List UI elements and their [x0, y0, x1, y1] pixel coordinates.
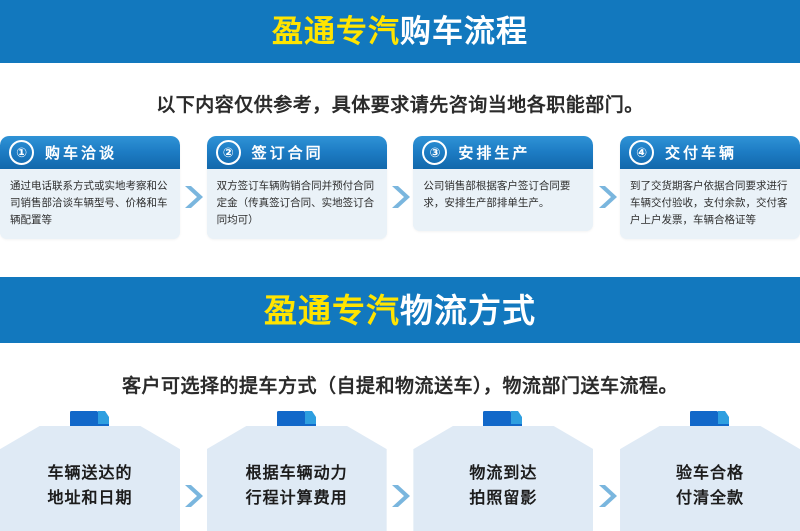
chevron-right-icon-2 — [387, 136, 414, 210]
brand-name-logistics: 盈通专汽 — [264, 292, 400, 329]
buy-process-steps: ① 购车洽谈 通过电话联系方式或实地考察和公司销售部洽谈车辆型号、价格和车辆配置… — [0, 136, 800, 248]
step-card-1-title: 购车洽谈 — [45, 142, 117, 163]
step-card-2[interactable]: ② 签订合同 双方签订车辆购销合同并预付合同定金（传真签订合同、实地签订合同均可… — [207, 136, 387, 239]
logistics-card-2-line2: 行程计算费用 — [246, 487, 348, 512]
logistics-card-1-shape: 车辆送达的 地址和日期 — [0, 426, 180, 531]
step-number-icon-3: ③ — [422, 140, 447, 165]
logistics-card-4-line2: 付清全款 — [676, 487, 744, 512]
step-card-4-body: 到了交货期客户依据合同要求进行车辆交付验收，支付余款，交付客户上户发票，车辆合格… — [620, 169, 800, 239]
buy-process-subtitle: 以下内容仅供参考，具体要求请先咨询当地各职能部门。 — [0, 63, 800, 117]
logistics-card-3-line1: 物流到达 — [469, 462, 537, 487]
logistics-card-4[interactable]: 验车合格 付清全款 — [620, 409, 800, 531]
step-card-4[interactable]: ④ 交付车辆 到了交货期客户依据合同要求进行车辆交付验收，支付余款，交付客户上户… — [620, 136, 800, 239]
logistics-card-1-line2: 地址和日期 — [47, 487, 132, 512]
buy-process-banner: 盈通专汽购车流程 — [0, 0, 800, 63]
logistics-card-1[interactable]: 车辆送达的 地址和日期 — [0, 409, 180, 531]
step-card-3[interactable]: ③ 安排生产 公司销售部根据客户签订合同要求，安排生产部排单生产。 — [413, 136, 593, 231]
banner-title-rest-buy: 购车流程 — [400, 14, 528, 49]
chevron-right-icon-5 — [387, 409, 414, 509]
logistics-card-3-line2: 拍照留影 — [469, 487, 537, 512]
logistics-steps: 车辆送达的 地址和日期 根据车辆动力 行程计算费用 物流 — [0, 409, 800, 531]
chevron-right-icon-6 — [593, 409, 620, 509]
logistics-subtitle: 客户可选择的提车方式（自提和物流送车），物流部门送车流程。 — [0, 343, 800, 398]
logistics-banner: 盈通专汽物流方式 — [0, 277, 800, 343]
logistics-card-4-shape: 验车合格 付清全款 — [620, 426, 800, 531]
step-card-1[interactable]: ① 购车洽谈 通过电话联系方式或实地考察和公司销售部洽谈车辆型号、价格和车辆配置… — [0, 136, 180, 239]
step-card-4-header: ④ 交付车辆 — [620, 136, 800, 169]
chevron-right-icon-4 — [180, 409, 207, 509]
logistics-banner-title: 盈通专汽物流方式 — [264, 294, 536, 327]
step-number-icon-2: ② — [216, 140, 241, 165]
banner-title-rest-logistics: 物流方式 — [400, 292, 536, 329]
step-card-3-title: 安排生产 — [458, 142, 530, 163]
chevron-right-icon-1 — [180, 136, 207, 210]
step-number-icon-4: ④ — [629, 140, 654, 165]
logistics-card-3-shape: 物流到达 拍照留影 — [413, 426, 593, 531]
step-card-2-header: ② 签订合同 — [207, 136, 387, 169]
step-card-2-title: 签订合同 — [252, 142, 324, 163]
step-number-icon-1: ① — [9, 140, 34, 165]
step-card-4-title: 交付车辆 — [665, 142, 737, 163]
logistics-card-2-line1: 根据车辆动力 — [246, 462, 348, 487]
step-card-1-body: 通过电话联系方式或实地考察和公司销售部洽谈车辆型号、价格和车辆配置等 — [0, 169, 180, 239]
logistics-card-1-line1: 车辆送达的 — [47, 462, 132, 487]
step-card-1-header: ① 购车洽谈 — [0, 136, 180, 169]
brand-name-buy: 盈通专汽 — [272, 14, 400, 49]
step-card-2-body: 双方签订车辆购销合同并预付合同定金（传真签订合同、实地签订合同均可） — [207, 169, 387, 239]
logistics-card-4-line1: 验车合格 — [676, 462, 744, 487]
step-card-3-body: 公司销售部根据客户签订合同要求，安排生产部排单生产。 — [413, 169, 593, 231]
step-card-3-header: ③ 安排生产 — [413, 136, 593, 169]
logistics-card-3[interactable]: 物流到达 拍照留影 — [413, 409, 593, 531]
logistics-card-2[interactable]: 根据车辆动力 行程计算费用 — [207, 409, 387, 531]
logistics-card-2-shape: 根据车辆动力 行程计算费用 — [207, 426, 387, 531]
chevron-right-icon-3 — [593, 136, 620, 210]
buy-process-banner-title: 盈通专汽购车流程 — [272, 16, 528, 47]
